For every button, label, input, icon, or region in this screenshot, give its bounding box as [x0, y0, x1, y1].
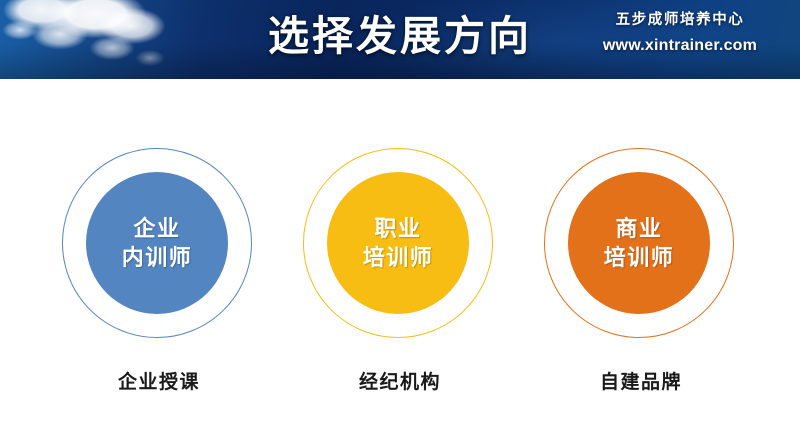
inner-disc: 商业 培训师	[568, 172, 710, 314]
disc-label-line1: 职业	[374, 214, 421, 243]
disc-label-line2: 培训师	[363, 243, 434, 272]
inner-disc: 职业 培训师	[327, 172, 469, 314]
slide-header-banner: 选择发展方向 五步成师培养中心 www.xintrainer.com	[0, 0, 800, 79]
disc-label-line1: 商业	[615, 214, 662, 243]
caption-enterprise-internal-trainer: 企业授课	[29, 367, 289, 394]
disc-label-line1: 企业	[133, 214, 180, 243]
inner-disc: 企业 内训师	[86, 172, 228, 314]
caption-commercial-trainer: 自建品牌	[511, 367, 771, 394]
circle-item-professional-trainer[interactable]: 职业 培训师	[300, 148, 500, 348]
circle-item-enterprise-internal-trainer[interactable]: 企业 内训师	[59, 148, 259, 348]
presentation-slide: 选择发展方向 五步成师培养中心 www.xintrainer.com 企业 内训…	[0, 0, 800, 434]
caption-professional-trainer: 经纪机构	[270, 367, 530, 394]
disc-label-line2: 内训师	[122, 243, 193, 272]
slide-body: 企业 内训师 企业授课 职业 培训师 经纪机构 商业 培训师 自建品牌	[0, 79, 800, 434]
brand-website-url: www.xintrainer.com	[580, 34, 780, 58]
brand-name: 五步成师培养中心	[580, 10, 780, 30]
disc-label-line2: 培训师	[604, 243, 675, 272]
circle-item-commercial-trainer[interactable]: 商业 培训师	[541, 148, 741, 348]
brand-block: 五步成师培养中心 www.xintrainer.com	[580, 10, 780, 58]
